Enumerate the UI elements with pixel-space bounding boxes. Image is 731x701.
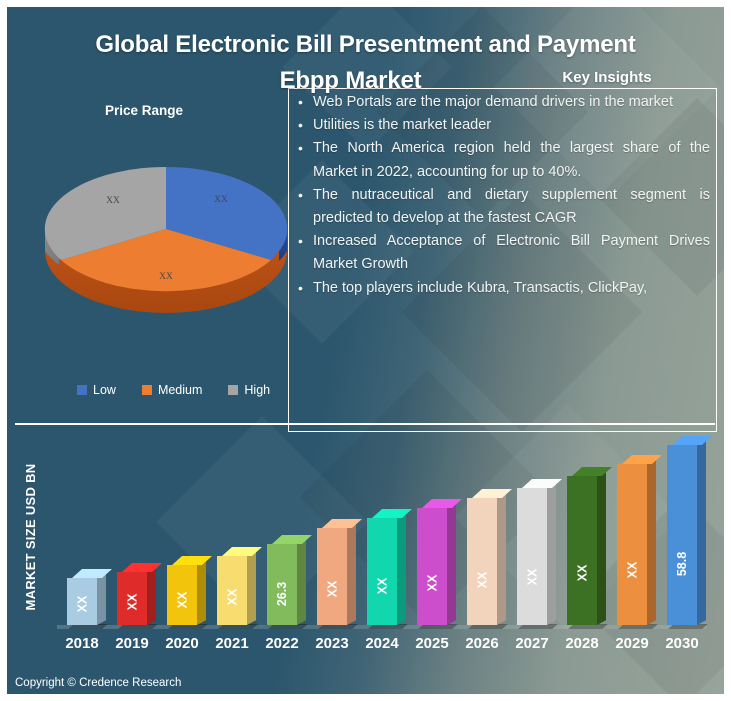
bar-value-label: XX <box>467 573 497 587</box>
infographic-canvas: Global Electronic Bill Presentment and P… <box>7 7 724 694</box>
bar-chart-x-labels: 2018201920202021202220232024202520262027… <box>57 628 707 652</box>
bar-2020[interactable]: XX <box>167 565 197 625</box>
x-axis-label-2030: 2030 <box>659 635 705 652</box>
legend-swatch-high <box>228 385 238 395</box>
bar-2022[interactable]: 26.3 <box>267 544 297 625</box>
bar-2019[interactable]: XX <box>117 572 147 625</box>
bar-front-face <box>617 464 647 625</box>
bar-front-face <box>417 508 447 625</box>
legend-item-high[interactable]: High <box>228 383 270 397</box>
bar-side-face <box>397 513 406 625</box>
bar-side-face <box>247 551 256 625</box>
bar-2027[interactable]: XX <box>517 488 547 625</box>
bar-chart: MARKET SIZE USD BN XXXXXXXX26.3XXXXXXXXX… <box>7 427 724 694</box>
legend-swatch-medium <box>142 385 152 395</box>
pie-chart-svg: XX XX XX <box>35 155 297 315</box>
footer: Copyright © Credence Research <box>7 670 724 694</box>
bar-2026[interactable]: XX <box>467 498 497 625</box>
x-axis-label-2025: 2025 <box>409 635 455 652</box>
legend-item-medium[interactable]: Medium <box>142 383 202 397</box>
bar-side-face <box>197 560 206 625</box>
bar-front-face <box>517 488 547 625</box>
bar-value-label: XX <box>67 597 97 611</box>
bar-side-face <box>297 539 306 625</box>
legend-label-high: High <box>244 383 270 397</box>
x-axis-label-2022: 2022 <box>259 635 305 652</box>
x-axis-label-2023: 2023 <box>309 635 355 652</box>
x-axis-label-2027: 2027 <box>509 635 555 652</box>
x-axis-label-2021: 2021 <box>209 635 255 652</box>
bar-value-label: XX <box>217 590 247 604</box>
bar-front-face <box>567 476 597 625</box>
bar-side-face <box>647 459 656 625</box>
bar-2028[interactable]: XX <box>567 476 597 625</box>
bar-2029[interactable]: XX <box>617 464 647 625</box>
key-insights-panel: Web Portals are the major demand drivers… <box>288 88 717 432</box>
bar-side-face <box>547 483 556 625</box>
bar-2018[interactable]: XX <box>67 578 97 625</box>
bar-side-face <box>697 440 706 625</box>
bar-chart-y-axis-label: MARKET SIZE USD BN <box>23 447 38 627</box>
bar-front-face <box>317 528 347 625</box>
bar-value-label: XX <box>567 566 597 580</box>
title-line-1: Global Electronic Bill Presentment and P… <box>7 27 724 63</box>
bar-value-label: XX <box>167 593 197 607</box>
page-title: Global Electronic Bill Presentment and P… <box>7 27 724 99</box>
bar-chart-plot: XXXXXXXX26.3XXXXXXXXXXXXXX58.8 201820192… <box>57 437 707 652</box>
pie-label-high: XX <box>106 196 120 206</box>
x-axis-label-2029: 2029 <box>609 635 655 652</box>
x-axis-label-2028: 2028 <box>559 635 605 652</box>
bar-side-face <box>597 471 606 625</box>
bar-value-label: 26.3 <box>267 587 297 601</box>
bar-value-label: XX <box>617 563 647 577</box>
pie-chart-title: Price Range <box>49 103 239 118</box>
bar-side-face <box>147 567 156 625</box>
x-axis-label-2024: 2024 <box>359 635 405 652</box>
pie-label-low: XX <box>214 195 228 205</box>
bar-chart-bars: XXXXXXXX26.3XXXXXXXXXXXXXX58.8 <box>57 435 707 625</box>
bar-front-face <box>367 518 397 625</box>
bar-value-label: XX <box>317 582 347 596</box>
key-insight-item: Utilities is the market leader <box>293 114 710 137</box>
pie-label-medium: XX <box>159 272 173 282</box>
bar-value-label: XX <box>417 576 447 590</box>
legend-item-low[interactable]: Low <box>77 383 116 397</box>
x-axis-label-2020: 2020 <box>159 635 205 652</box>
copyright-text: Copyright © Credence Research <box>15 677 181 689</box>
bar-side-face <box>447 503 456 625</box>
infographic-root: Global Electronic Bill Presentment and P… <box>0 0 731 701</box>
key-insight-item: The North America region held the larges… <box>293 137 710 183</box>
bar-front-face <box>667 445 697 625</box>
legend-label-medium: Medium <box>158 383 202 397</box>
bar-2021[interactable]: XX <box>217 556 247 625</box>
bar-2025[interactable]: XX <box>417 508 447 625</box>
pie-chart-legend: Low Medium High <box>77 381 307 399</box>
x-axis-label-2019: 2019 <box>109 635 155 652</box>
key-insight-item: The top players include Kubra, Transacti… <box>293 277 710 300</box>
legend-swatch-low <box>77 385 87 395</box>
x-axis-label-2018: 2018 <box>59 635 105 652</box>
key-insights-list: Web Portals are the major demand drivers… <box>293 91 710 300</box>
bar-2030[interactable]: 58.8 <box>667 445 697 625</box>
bar-value-label: XX <box>517 570 547 584</box>
bar-2024[interactable]: XX <box>367 518 397 625</box>
key-insights-heading: Key Insights <box>487 69 724 86</box>
legend-label-low: Low <box>93 383 116 397</box>
bar-value-label: XX <box>117 595 147 609</box>
bar-side-face <box>97 573 106 625</box>
bar-value-label: XX <box>367 579 397 593</box>
bar-value-label: 58.8 <box>667 557 697 571</box>
bar-side-face <box>347 523 356 625</box>
bar-front-face <box>467 498 497 625</box>
x-axis-label-2026: 2026 <box>459 635 505 652</box>
key-insight-item: The nutraceutical and dietary supplement… <box>293 184 710 230</box>
bar-side-face <box>497 493 506 625</box>
bar-2023[interactable]: XX <box>317 528 347 625</box>
key-insight-item: Increased Acceptance of Electronic Bill … <box>293 230 710 276</box>
pie-chart: XX XX XX <box>35 155 297 315</box>
